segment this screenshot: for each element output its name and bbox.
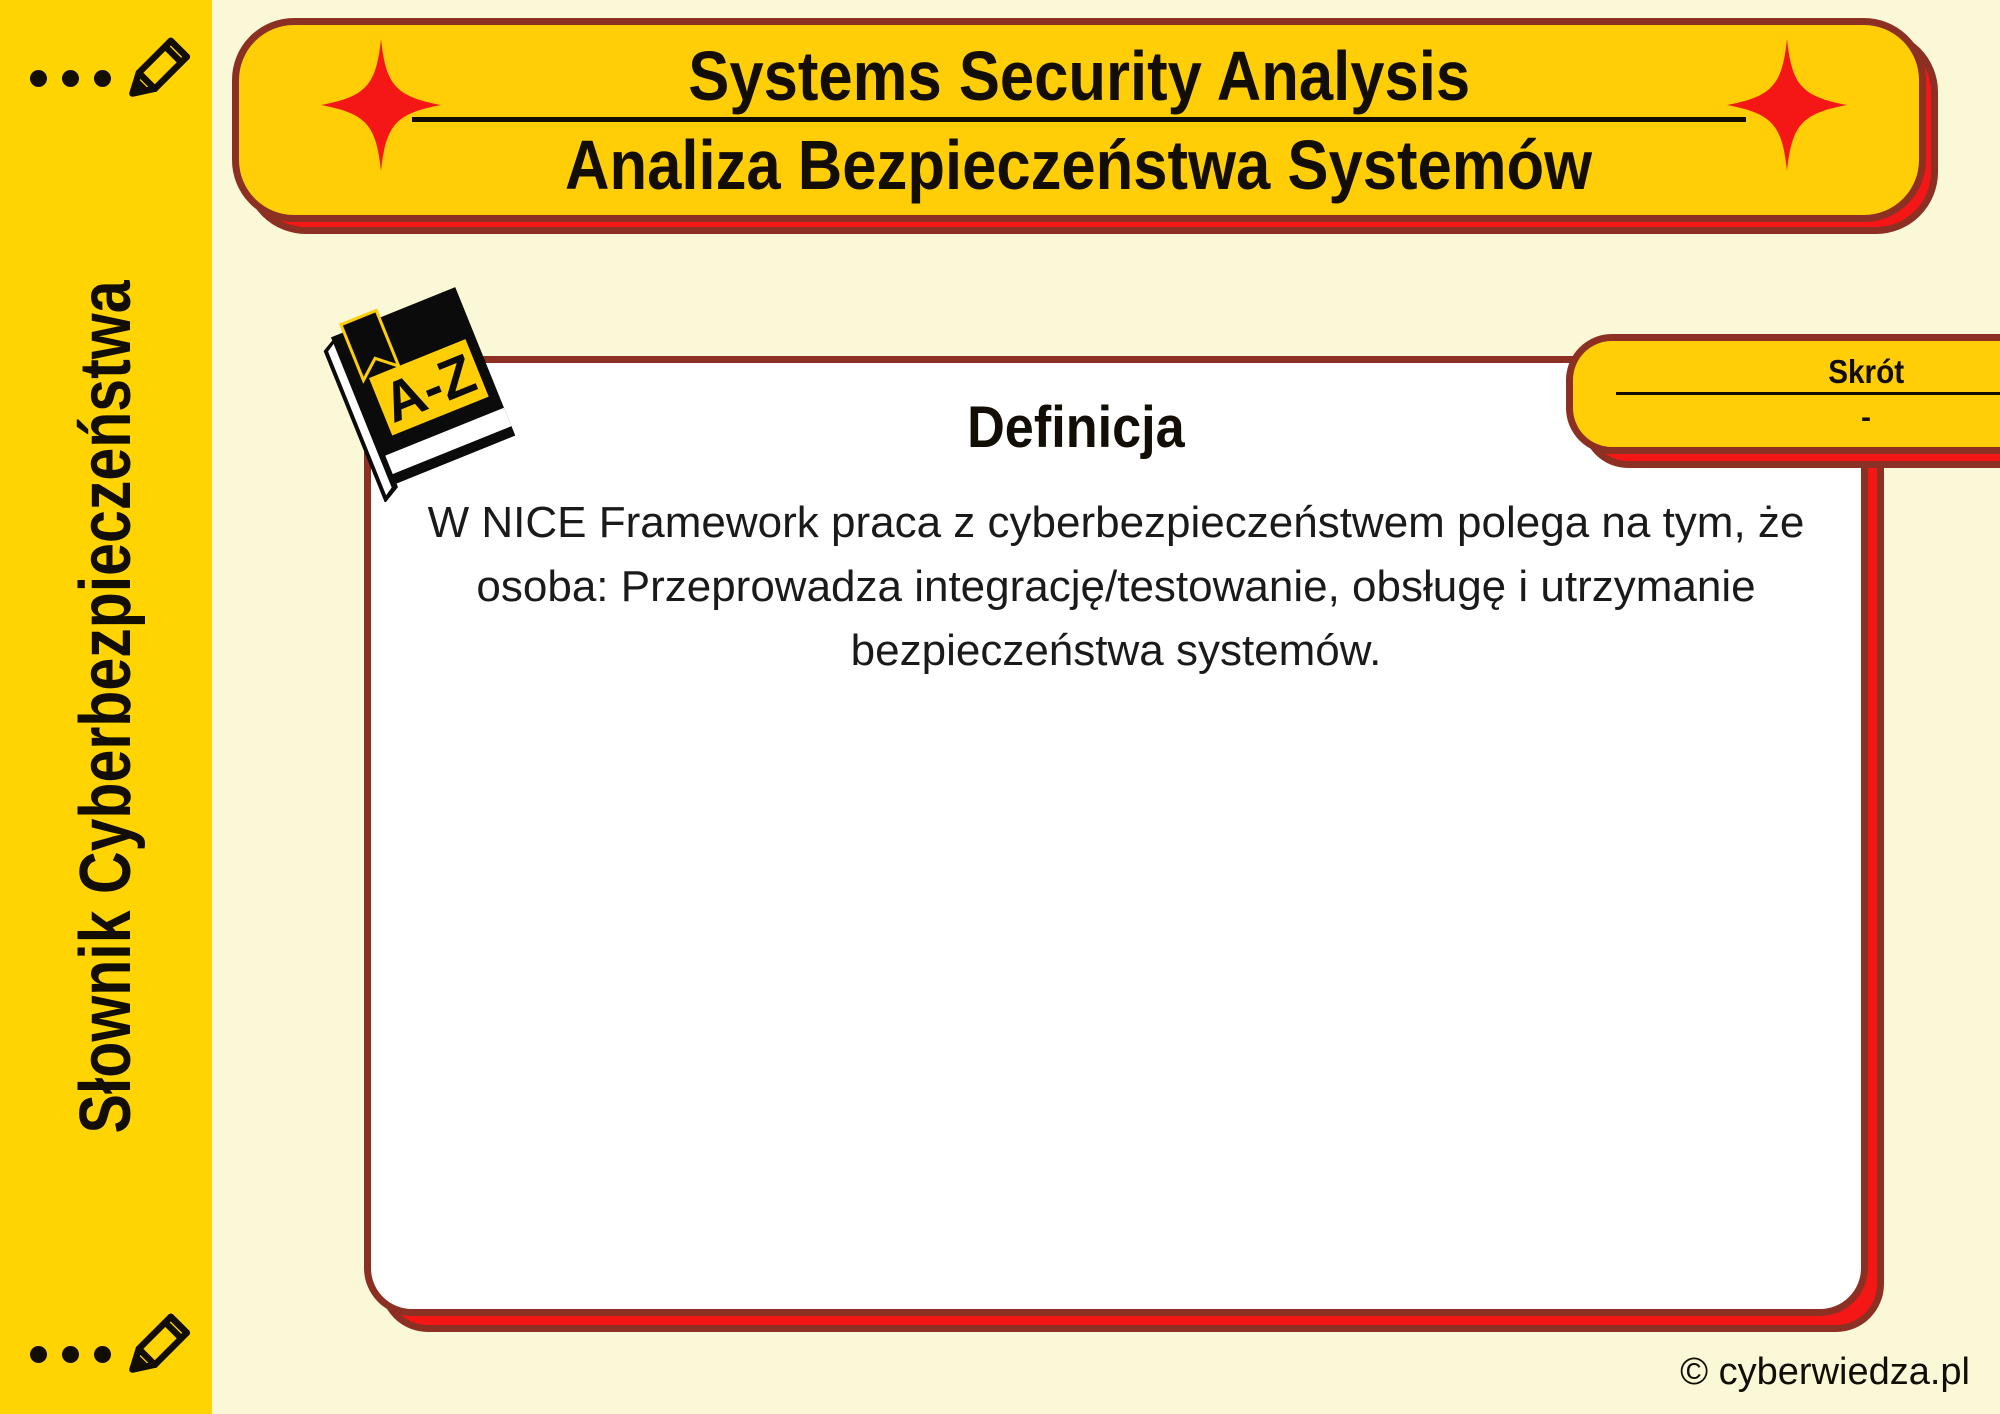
- sidebar-mark-bottom: [26, 1290, 196, 1400]
- sidebar-vertical-title: Słownik Cyberbezpieczeństwa: [0, 0, 212, 1414]
- pencil-icon: [118, 28, 198, 108]
- definition-text: W NICE Framework praca z cyberbezpieczeń…: [371, 491, 1861, 682]
- title-polish: Analiza Bezpieczeństwa Systemów: [565, 122, 1592, 200]
- abbreviation-value: -: [1861, 403, 1871, 433]
- abbreviation-label: Skrót: [1828, 355, 1904, 388]
- definition-card: Definicja W NICE Framework praca z cyber…: [364, 356, 1868, 1316]
- book-az-icon: A-Z: [304, 272, 534, 502]
- definition-heading: Definicja: [967, 394, 1185, 461]
- main-stage: Systems Security Analysis Analiza Bezpie…: [212, 0, 2000, 1414]
- sparkle-icon-left: [319, 39, 443, 171]
- sidebar: Słownik Cyberbezpieczeństwa: [0, 0, 212, 1414]
- sidebar-title-text: Słownik Cyberbezpieczeństwa: [65, 280, 147, 1133]
- pencil-icon: [118, 1304, 198, 1384]
- title-english: Systems Security Analysis: [688, 41, 1470, 117]
- sparkle-icon-right: [1725, 39, 1849, 171]
- ellipsis-dots-icon: [30, 70, 111, 87]
- title-banner: Systems Security Analysis Analiza Bezpie…: [232, 18, 1926, 222]
- sidebar-mark-top: [26, 14, 196, 124]
- abbreviation-divider: [1616, 392, 2000, 395]
- footer-copyright: © cyberwiedza.pl: [1680, 1351, 1970, 1394]
- ellipsis-dots-icon: [30, 1346, 111, 1363]
- abbreviation-box: Skrót -: [1566, 334, 2000, 454]
